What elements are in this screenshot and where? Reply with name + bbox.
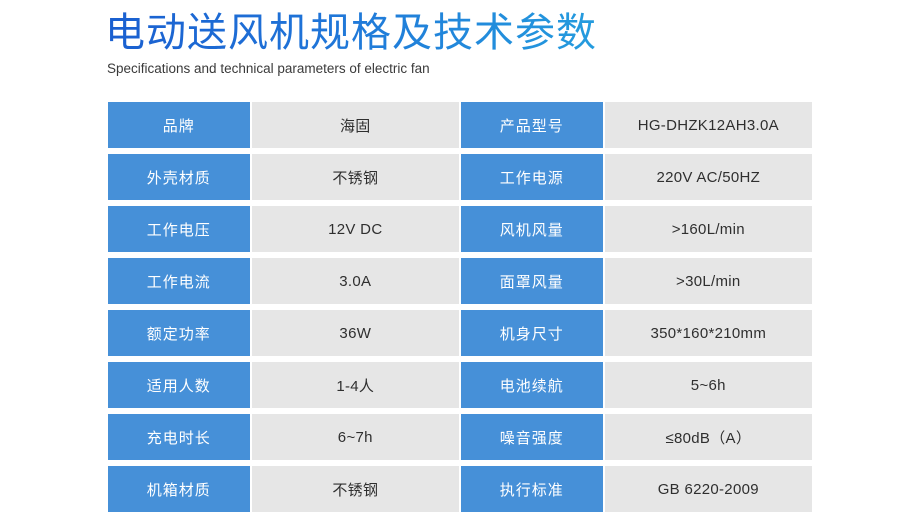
spec-value-right: 5~6h [605,362,812,408]
spec-label-left: 外壳材质 [108,154,250,200]
spec-label-left: 品牌 [108,102,250,148]
spec-label-left: 工作电压 [108,206,250,252]
spec-label-left: 额定功率 [108,310,250,356]
spec-value-right: GB 6220-2009 [605,466,812,512]
spec-label-right: 噪音强度 [461,414,603,460]
table-row: 工作电压 12V DC 风机风量 >160L/min [108,206,812,252]
spec-label-right: 产品型号 [461,102,603,148]
spec-label-right: 电池续航 [461,362,603,408]
spec-value-right: >160L/min [605,206,812,252]
page-title: 电动送风机规格及技术参数 [105,8,865,58]
spec-value-right: >30L/min [605,258,812,304]
spec-label-right: 机身尺寸 [461,310,603,356]
spec-value-right: ≤80dB（A） [605,414,812,460]
spec-value-left: 不锈钢 [252,466,459,512]
spec-label-left: 适用人数 [108,362,250,408]
table-row: 品牌 海固 产品型号 HG-DHZK12AH3.0A [108,102,812,148]
specifications-table: 品牌 海固 产品型号 HG-DHZK12AH3.0A 外壳材质 不锈钢 工作电源… [108,102,812,518]
table-row: 外壳材质 不锈钢 工作电源 220V AC/50HZ [108,154,812,200]
spec-value-left: 12V DC [252,206,459,252]
spec-label-left: 充电时长 [108,414,250,460]
spec-value-left: 1-4人 [252,362,459,408]
spec-value-right: HG-DHZK12AH3.0A [605,102,812,148]
table-row: 工作电流 3.0A 面罩风量 >30L/min [108,258,812,304]
table-row: 适用人数 1-4人 电池续航 5~6h [108,362,812,408]
table-row: 机箱材质 不锈钢 执行标准 GB 6220-2009 [108,466,812,512]
table-row: 额定功率 36W 机身尺寸 350*160*210mm [108,310,812,356]
page-header: 电动送风机规格及技术参数 Specifications and technica… [105,8,865,78]
spec-value-left: 3.0A [252,258,459,304]
spec-sheet-page: 电动送风机规格及技术参数 Specifications and technica… [0,0,920,512]
table-row: 充电时长 6~7h 噪音强度 ≤80dB（A） [108,414,812,460]
page-subtitle: Specifications and technical parameters … [107,60,865,78]
spec-label-right: 风机风量 [461,206,603,252]
spec-value-left: 不锈钢 [252,154,459,200]
spec-label-left: 工作电流 [108,258,250,304]
spec-value-left: 36W [252,310,459,356]
spec-value-left: 6~7h [252,414,459,460]
spec-label-right: 面罩风量 [461,258,603,304]
spec-label-right: 执行标准 [461,466,603,512]
spec-value-left: 海固 [252,102,459,148]
spec-label-right: 工作电源 [461,154,603,200]
spec-label-left: 机箱材质 [108,466,250,512]
spec-value-right: 220V AC/50HZ [605,154,812,200]
spec-value-right: 350*160*210mm [605,310,812,356]
